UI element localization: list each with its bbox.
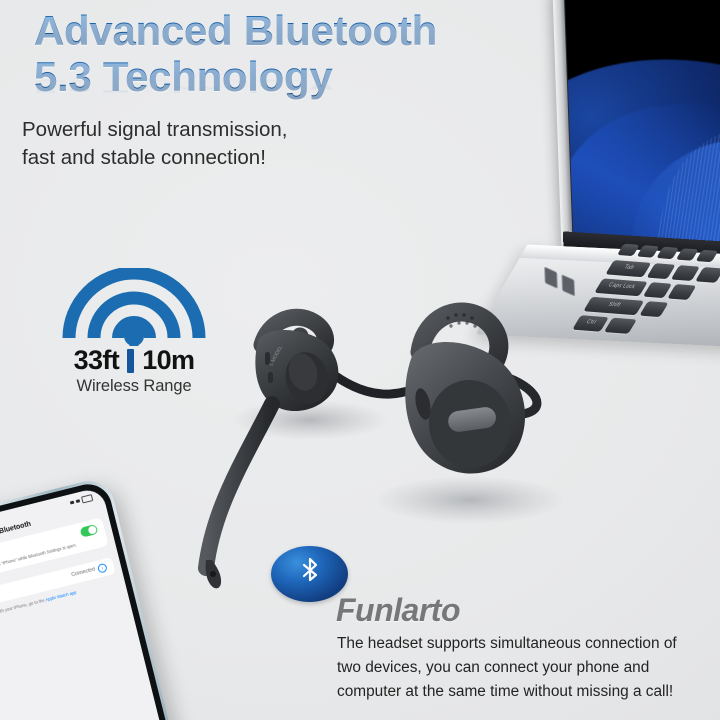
boom-mic-arm [206,404,272,568]
boom-mic-tip [206,560,221,588]
device-status: Connected i [70,562,107,579]
key-fn-2 [637,245,660,257]
headline-line-1: Advanced Bluetooth [34,8,504,54]
key-tab: Tab [605,260,651,277]
headset-shadow-left [232,400,388,440]
range-separator-bar [127,349,134,373]
right-ear-hook-loop [487,372,537,414]
right-earpiece-notch [413,387,433,421]
left-earpiece: L MODEL [255,317,338,411]
left-side-button-2 [268,372,273,383]
left-ear-hook [262,317,326,353]
phone-page-title: Bluetooth [0,520,32,535]
wifi-signal-icon [61,268,207,346]
phone-bezel: 9:41 ‹ Settings Bluetooth Blueto [0,479,177,720]
bluetooth-toggle[interactable] [79,523,98,537]
range-feet: 33ft [74,345,120,376]
device-status-text: Connected [71,567,96,579]
left-speaker-inner [285,350,321,394]
right-earpiece-body [405,342,525,474]
left-earpiece-marking: L MODEL [268,345,284,367]
key-fn-5 [696,250,719,262]
footer-text: To pair an Apple Watch with your iPhone,… [0,597,45,625]
headset-neckband-cable [330,368,448,394]
boom-microphone [206,404,272,588]
boom-mic-port [210,571,216,577]
subheadline-line-1: Powerful signal transmission, [22,116,462,144]
key-caps-lock: Caps Lock [594,278,647,296]
left-side-button-1 [265,352,270,365]
signal-icon [70,500,75,504]
key-alt [604,318,637,334]
range-label: Wireless Range [54,377,214,396]
range-figures: 33ft 10m [54,345,214,376]
product-description: The headset supports simultaneous connec… [337,632,715,704]
phone-illustration: 9:41 ‹ Settings Bluetooth Blueto [0,476,180,720]
phone-frame: 9:41 ‹ Settings Bluetooth Blueto [0,476,180,720]
key-z [639,301,668,317]
left-earpiece-body [255,330,338,411]
headset-shadow-right [375,476,565,524]
subheadline-block: Powerful signal transmission, fast and s… [22,116,462,172]
info-icon[interactable]: i [97,562,108,573]
wireless-range-badge: 33ft 10m Wireless Range [54,268,214,396]
description-line-3: computer at the same time without missin… [337,680,715,704]
right-earpiece [405,312,525,474]
product-marketing-poster: Tab Caps Lock Shift Ctrl Advanced Blueto… [0,0,720,720]
right-hook-texture [446,313,476,327]
laptop-illustration: Tab Caps Lock Shift Ctrl [492,0,720,317]
brand-name: Funlarto [336,592,460,629]
apple-watch-app-link[interactable]: Apple Watch app [45,589,77,602]
subheadline-line-2: fast and stable connection! [22,144,462,172]
description-line-2: two devices, you can connect your phone … [337,656,715,680]
key-fn-4 [676,248,699,260]
description-line-1: The headset supports simultaneous connec… [337,632,715,656]
right-speaker-pad [423,375,516,474]
phone-screen: 9:41 ‹ Settings Bluetooth Blueto [0,487,169,720]
key-shift: Shift [583,297,644,315]
key-fn-1 [617,244,640,256]
right-control-button [447,406,497,433]
key-fn-3 [656,247,679,259]
range-meters: 10m [142,345,194,376]
key-e [695,267,720,283]
headline-line-2: 5.3 Technology [34,54,504,100]
wifi-icon [76,499,81,503]
left-speaker-pad [280,348,333,409]
key-ctrl: Ctrl [572,315,609,331]
key-s [667,284,696,300]
